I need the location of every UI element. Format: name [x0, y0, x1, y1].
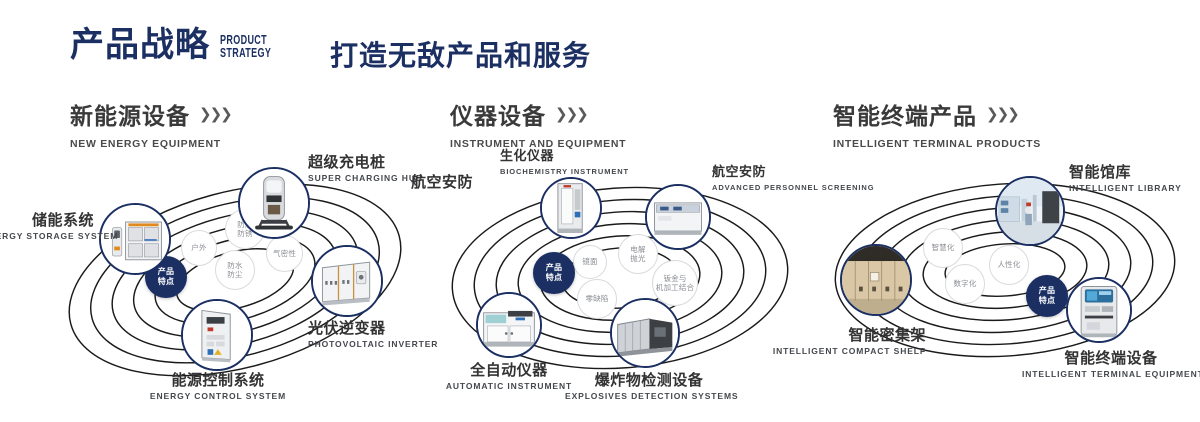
control-cabinet-icon — [183, 301, 251, 369]
screening-machine-icon — [647, 186, 709, 248]
feature-bubble: 户外 — [181, 230, 217, 266]
node-automatic-instrument[interactable] — [476, 292, 542, 358]
node-image-disc — [181, 299, 253, 371]
cluster-instrument: 镜面 电解抛光 零缺陷 钣金与机加工结合 产品特点 航空安防 — [420, 150, 820, 400]
node-super-charging-hub[interactable] — [238, 167, 310, 239]
chevron-right-icon: ❯❯❯ — [555, 105, 587, 123]
section-header-new-energy: 新能源设备❯❯❯ NEW ENERGY EQUIPMENT — [70, 97, 231, 150]
feature-bubble: 气密性 — [266, 235, 303, 272]
node-advanced-personnel-screening[interactable] — [645, 184, 711, 250]
compact-shelf-icon — [842, 246, 910, 314]
explosives-detector-icon — [612, 300, 678, 366]
automatic-instrument-icon — [478, 294, 540, 356]
node-label-explosives-detection-systems: 爆炸物检测设备 EXPLOSIVES DETECTION SYSTEMS — [565, 372, 733, 402]
page-title-cn: 产品战略 — [70, 28, 210, 62]
chevron-right-icon: ❯❯❯ — [986, 105, 1018, 123]
node-image-disc — [610, 298, 680, 368]
feature-bubble: 人性化 — [989, 245, 1029, 285]
node-label-energy-control-system: 能源控制系统 ENERGY CONTROL SYSTEM — [114, 372, 322, 402]
page-title-en-line1: PRODUCT — [220, 33, 267, 47]
core-bubble-product-features: 产品特点 — [1026, 275, 1068, 317]
self-service-kiosk-icon — [1068, 279, 1130, 341]
node-image-disc — [540, 177, 602, 239]
node-intelligent-terminal-equipment[interactable] — [1066, 277, 1132, 343]
section-title-cn: 仪器设备 — [450, 97, 546, 131]
page-title-en-line2: STRATEGY — [220, 46, 271, 60]
pv-inverter-icon — [313, 247, 381, 315]
smart-library-icon — [997, 178, 1063, 244]
feature-bubble: 防水防尘 — [215, 250, 255, 290]
node-image-disc — [645, 184, 711, 250]
section-header-intelligent-terminal: 智能终端产品❯❯❯ INTELLIGENT TERMINAL PRODUCTS — [833, 97, 1041, 150]
node-intelligent-compact-shelf[interactable] — [840, 244, 912, 316]
product-strategy-infographic: 产品战略 PRODUCT STRATEGY 打造无敌产品和服务 新能源设备❯❯❯… — [0, 0, 1200, 422]
charging-pile-icon — [240, 169, 308, 237]
chevron-right-icon: ❯❯❯ — [199, 105, 231, 123]
page-slogan: 打造无敌产品和服务 — [330, 34, 591, 74]
biochemistry-instrument-icon — [542, 179, 600, 237]
node-image-disc — [1066, 277, 1132, 343]
section-header-instrument: 仪器设备❯❯❯ INSTRUMENT AND EQUIPMENT — [450, 97, 626, 150]
section-title-cn: 新能源设备 — [70, 97, 190, 131]
node-biochemistry-instrument[interactable] — [540, 177, 602, 239]
section-title-en: INTELLIGENT TERMINAL PRODUCTS — [833, 138, 1041, 150]
node-image-disc — [238, 167, 310, 239]
section-title-cn: 智能终端产品 — [833, 97, 977, 131]
cluster-new-energy: 户外 防腐防锈 防水防尘 气密性 产品特点 — [40, 150, 440, 400]
node-image-disc — [995, 176, 1065, 246]
node-energy-control-system[interactable] — [181, 299, 253, 371]
feature-bubble: 数字化 — [945, 264, 985, 304]
node-explosives-detection-systems[interactable] — [610, 298, 680, 368]
node-image-disc — [476, 292, 542, 358]
node-label-biochemistry-instrument: 生化仪器 BIOCHEMISTRY INSTRUMENT — [500, 150, 604, 176]
node-label-aviation-security-left: 航空安防 — [411, 174, 503, 193]
feature-bubble: 镜面 — [573, 245, 607, 279]
node-image-disc — [840, 244, 912, 316]
core-bubble-product-features: 产品特点 — [533, 252, 575, 294]
node-photovoltaic-inverter[interactable] — [311, 245, 383, 317]
section-title-en: NEW ENERGY EQUIPMENT — [70, 138, 231, 150]
node-image-disc — [311, 245, 383, 317]
node-label-energy-storage-system: 储能系统 ENERGY STORAGE SYSTEM — [0, 212, 94, 242]
node-label-automatic-instrument: 全自动仪器 AUTOMATIC INSTRUMENT — [431, 362, 587, 392]
page-title: 产品战略 PRODUCT STRATEGY — [70, 28, 291, 62]
node-label-intelligent-library: 智能馆库 INTELLIGENT LIBRARY — [1069, 164, 1199, 194]
cluster-intelligent-terminal: 智慧化 数字化 人性化 产品特点 — [810, 150, 1200, 400]
page-title-en: PRODUCT STRATEGY — [220, 34, 271, 60]
feature-bubble: 智慧化 — [923, 228, 963, 268]
node-label-intelligent-terminal-equipment: 智能终端设备 INTELLIGENT TERMINAL EQUIPMENT — [1022, 350, 1200, 380]
node-intelligent-library[interactable] — [995, 176, 1065, 246]
node-label-intelligent-compact-shelf: 智能密集架 INTELLIGENT COMPACT SHELF — [766, 327, 926, 357]
